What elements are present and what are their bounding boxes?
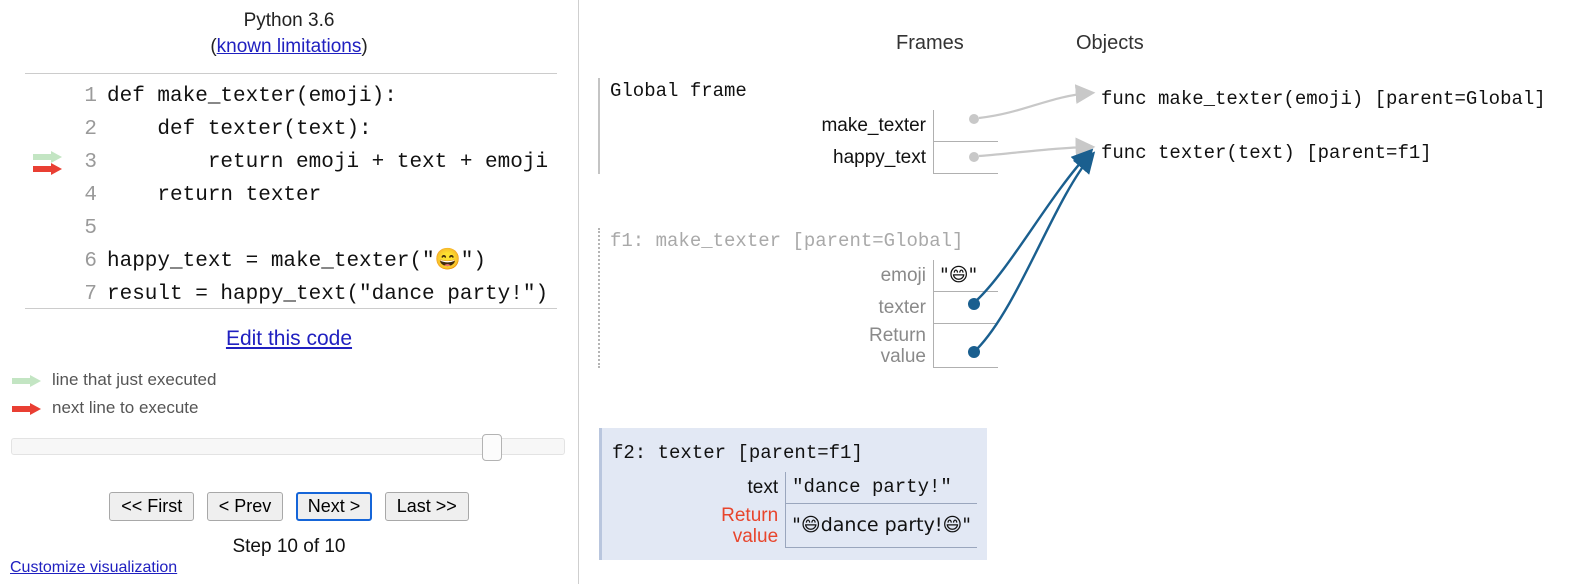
code-line-arrow-gutter (25, 80, 71, 113)
code-line-row: 6happy_text = make_texter("😄") (25, 245, 565, 278)
var-value-f1-return-value (934, 324, 999, 368)
code-line-text: def make_texter(emoji): (107, 80, 565, 113)
code-line-row: 1def make_texter(emoji): (25, 80, 565, 113)
step-counter-label: Step 10 of 10 (0, 536, 578, 558)
f2-frame-title: f2: texter [parent=f1] (612, 440, 977, 466)
code-line-row: 3 return emoji + text + emoji (25, 146, 565, 179)
var-value-emoji: "😄" (934, 260, 999, 292)
variable-row: Returnvalue (869, 324, 998, 368)
execution-legend: line that just executed next line to exe… (12, 366, 412, 422)
global-frame-vars: make_texter happy_text (821, 110, 998, 174)
code-divider-bottom (25, 308, 557, 309)
var-value-f2-return-value: "😄dance party!😄" (786, 504, 977, 548)
var-value-emoji-text: "😄" (940, 264, 977, 286)
objects-header: Objects (1076, 32, 1144, 55)
frames-header: Frames (896, 32, 964, 55)
edit-this-code-link[interactable]: Edit this code (226, 327, 352, 350)
code-divider-top (25, 73, 557, 74)
var-label-emoji: emoji (869, 260, 934, 292)
red-arrow-icon (33, 163, 63, 174)
known-limitations-link[interactable]: known limitations (217, 36, 362, 57)
last-button[interactable]: Last >> (385, 492, 469, 521)
code-line-arrow-gutter (25, 245, 71, 278)
first-button[interactable]: << First (109, 492, 194, 521)
var-value-happy-text (934, 142, 999, 174)
code-line-arrow-gutter (25, 179, 71, 212)
code-line-row: 2 def texter(text): (25, 113, 565, 146)
object-func-texter: func texter(text) [parent=f1] (1101, 140, 1432, 166)
global-frame-title: Global frame (610, 78, 998, 104)
code-line-arrow-gutter (25, 113, 71, 146)
var-value-text: "dance party!" (786, 472, 977, 504)
edit-this-code-wrapper: Edit this code (0, 327, 578, 351)
var-label-texter: texter (869, 292, 934, 324)
code-line-text: return texter (107, 179, 565, 212)
f1-frame-title: f1: make_texter [parent=Global] (610, 228, 998, 254)
code-line-number: 1 (71, 80, 107, 113)
python-version-label: Python 3.6 (0, 8, 578, 34)
customize-visualization-link[interactable]: Customize visualization (10, 559, 177, 577)
code-listing: 1def make_texter(emoji):2 def texter(tex… (25, 80, 565, 311)
code-line-text (107, 212, 565, 245)
next-button[interactable]: Next > (296, 492, 373, 521)
paren-close: ) (361, 36, 367, 57)
code-line-number: 3 (71, 146, 107, 179)
legend-row-next-line: next line to execute (12, 394, 412, 422)
code-line-text: return emoji + text + emoji (107, 146, 565, 179)
code-line-arrow-gutter (25, 146, 71, 179)
var-label-f2-return-value: Returnvalue (721, 504, 786, 548)
code-line-text: def texter(text): (107, 113, 565, 146)
code-line-number: 4 (71, 179, 107, 212)
code-line-number: 7 (71, 278, 107, 311)
code-line-number: 2 (71, 113, 107, 146)
code-pane: Python 3.6 (known limitations) 1def make… (0, 0, 578, 584)
legend-label-next-line: next line to execute (52, 398, 198, 418)
paren-open: ( (210, 36, 216, 57)
code-line-arrow-gutter (25, 212, 71, 245)
visualization-pane: Frames Objects Global frame make_texter … (579, 0, 1580, 584)
var-value-make-texter (934, 110, 999, 142)
known-limitations-line: (known limitations) (0, 34, 578, 60)
variable-row: text "dance party!" (721, 472, 977, 504)
var-value-texter (934, 292, 999, 324)
execution-arrow-stack (33, 151, 63, 174)
f2-frame-vars: text "dance party!" Returnvalue "😄dance … (721, 472, 977, 548)
f1-frame-vars: emoji "😄" texter Returnvalue (869, 260, 998, 368)
code-line-row: 5 (25, 212, 565, 245)
red-arrow-icon (12, 403, 42, 414)
f2-frame: f2: texter [parent=f1] text "dance party… (599, 428, 987, 560)
code-line-number: 6 (71, 245, 107, 278)
step-controls: << First < Prev Next > Last >> (0, 492, 578, 521)
variable-row: happy_text (821, 142, 998, 174)
variable-row: texter (869, 292, 998, 324)
code-line-text: result = happy_text("dance party!") (107, 278, 565, 311)
step-slider[interactable] (11, 438, 565, 455)
var-label-make-texter: make_texter (821, 110, 933, 142)
green-arrow-icon (12, 375, 42, 386)
code-line-text: happy_text = make_texter("😄") (107, 245, 565, 278)
var-label-f1-return-value: Returnvalue (869, 324, 934, 368)
code-line-row: 7result = happy_text("dance party!") (25, 278, 565, 311)
variable-row: make_texter (821, 110, 998, 142)
prev-button[interactable]: < Prev (207, 492, 284, 521)
code-line-arrow-gutter (25, 278, 71, 311)
variable-row: emoji "😄" (869, 260, 998, 292)
variable-row: Returnvalue "😄dance party!😄" (721, 504, 977, 548)
step-slider-handle[interactable] (482, 434, 502, 461)
global-frame: Global frame make_texter happy_text (598, 78, 998, 174)
green-arrow-icon (33, 151, 63, 162)
legend-row-just-executed: line that just executed (12, 366, 412, 394)
var-label-text: text (721, 472, 786, 504)
code-line-row: 4 return texter (25, 179, 565, 212)
var-label-happy-text: happy_text (821, 142, 933, 174)
code-line-number: 5 (71, 212, 107, 245)
legend-label-just-executed: line that just executed (52, 370, 216, 390)
f1-frame: f1: make_texter [parent=Global] emoji "😄… (598, 228, 998, 368)
object-func-make-texter: func make_texter(emoji) [parent=Global] (1101, 86, 1546, 112)
